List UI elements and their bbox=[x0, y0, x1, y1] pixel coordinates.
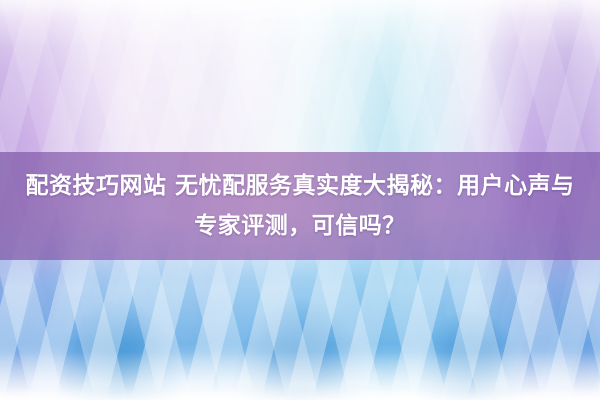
banner-title: 配资技巧网站 无忧配服务真实度大揭秘：用户心声与专家评测，可信吗？ bbox=[14, 166, 586, 246]
title-banner-band: 配资技巧网站 无忧配服务真实度大揭秘：用户心声与专家评测，可信吗？ bbox=[0, 152, 600, 260]
banner-image: 配资技巧网站 无忧配服务真实度大揭秘：用户心声与专家评测，可信吗？ bbox=[0, 0, 600, 400]
